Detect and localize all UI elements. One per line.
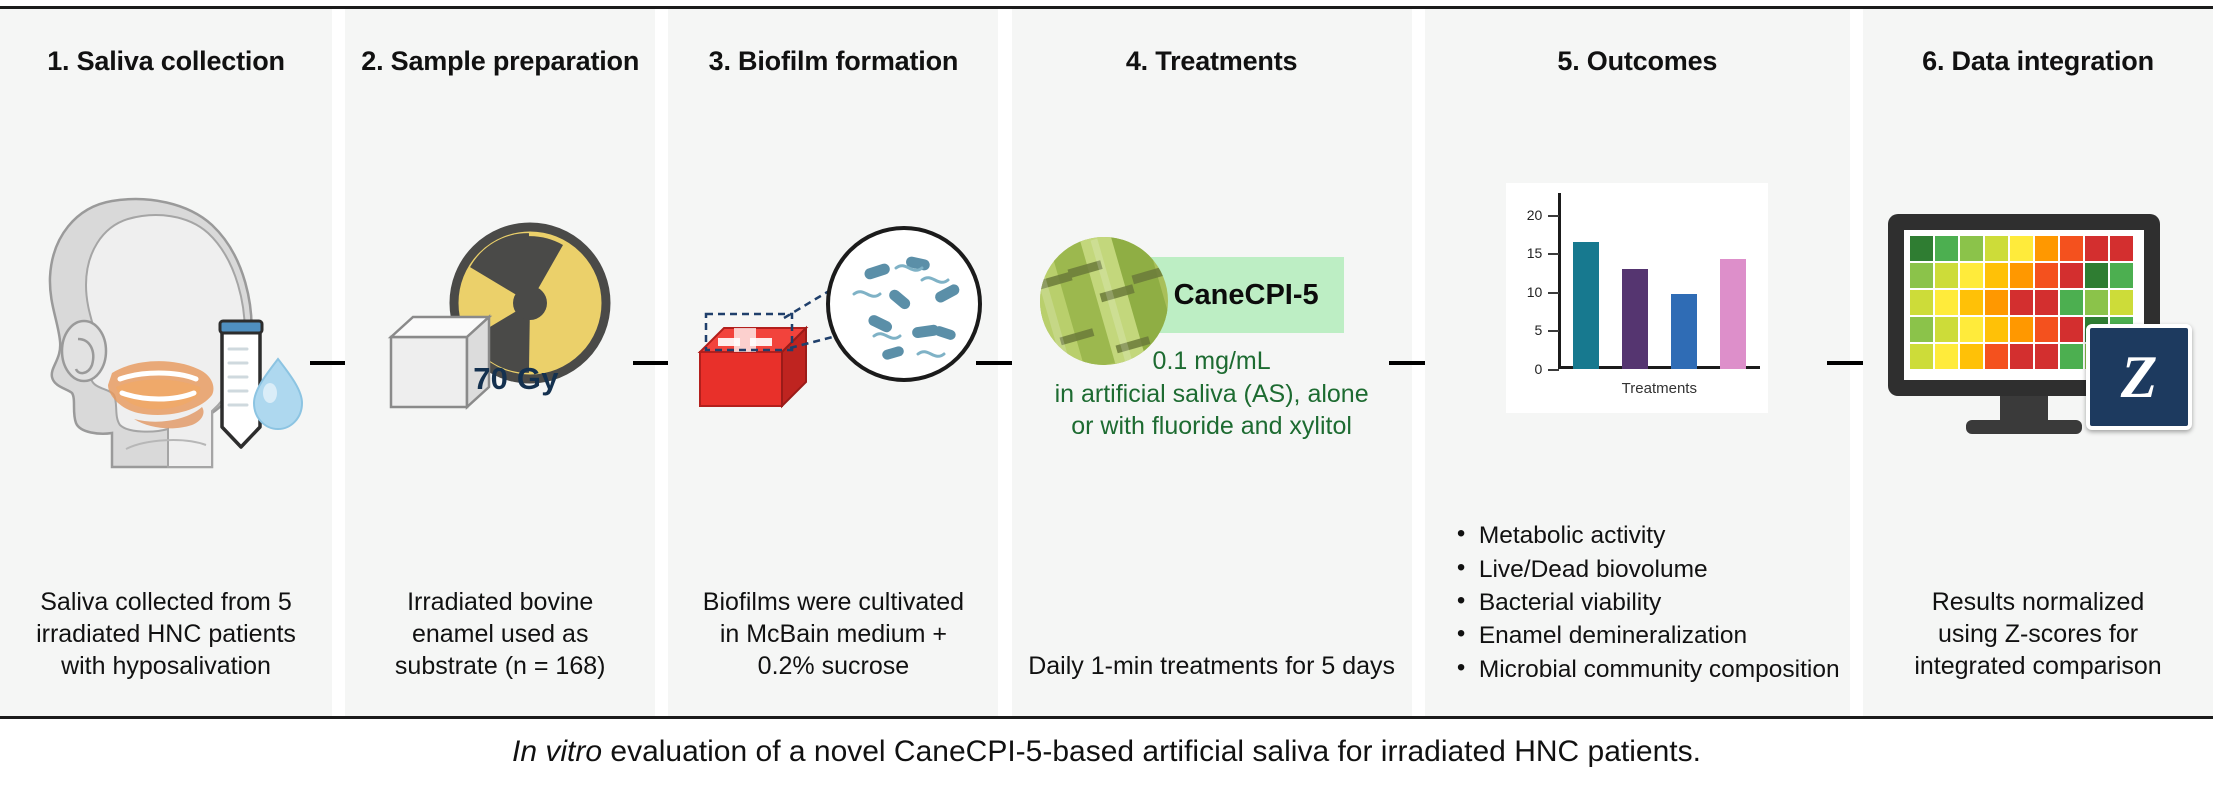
heatmap-cell xyxy=(1935,317,1958,342)
panel-caption-6: Results normalized using Z-scores for in… xyxy=(1863,586,2213,716)
chart-bar-3 xyxy=(1720,259,1745,370)
chart-ytick-20: 20 xyxy=(1548,215,1559,217)
outcome-item-4: Microbial community composition xyxy=(1455,653,1844,686)
panel-biofilm-formation: 3. Biofilm formation xyxy=(668,9,998,716)
heatmap-cell xyxy=(1985,317,2008,342)
radiation-dose-label: 70 Gy xyxy=(473,361,558,397)
heatmap-cell xyxy=(2110,236,2133,261)
chart-ytick-label-20: 20 xyxy=(1527,207,1543,223)
heatmap-cell xyxy=(2060,317,2083,342)
head-illustration xyxy=(16,181,316,481)
outcome-item-2: Bacterial viability xyxy=(1455,586,1844,619)
z-score-badge: Z xyxy=(2086,324,2192,430)
panel-caption-3: Biofilms were cultivated in McBain mediu… xyxy=(668,586,998,716)
heatmap-cell xyxy=(1910,344,1933,369)
heatmap-cell xyxy=(2060,236,2083,261)
panel-art-6: Z xyxy=(1863,77,2213,586)
panel-title-2: 2. Sample preparation xyxy=(345,47,655,77)
heatmap-cell xyxy=(2035,290,2058,315)
heatmap-cell xyxy=(1910,290,1933,315)
heatmap-cell xyxy=(1985,263,2008,288)
chart-ytick-label-5: 5 xyxy=(1535,322,1543,338)
heatmap-cell xyxy=(2060,344,2083,369)
heatmap-cell xyxy=(2010,344,2033,369)
chart-bar-1 xyxy=(1622,269,1647,369)
heatmap-cell xyxy=(1960,317,1983,342)
heatmap-cell xyxy=(1935,344,1958,369)
heatmap-cell xyxy=(2085,290,2108,315)
panel-outcomes: 5. Outcomes 05101520 Treatments Metaboli… xyxy=(1425,9,1850,716)
heatmap-cell xyxy=(2010,317,2033,342)
heatmap-cell xyxy=(1935,236,1958,261)
chart-ytick-15: 15 xyxy=(1548,253,1559,255)
radiation-symbol-icon xyxy=(355,211,645,451)
treatment-details-text: 0.1 mg/mL in artificial saliva (AS), alo… xyxy=(1022,345,1402,443)
heatmap-cell xyxy=(2010,290,2033,315)
outcomes-list: Metabolic activityLive/Dead biovolumeBac… xyxy=(1425,519,1850,716)
heatmap-cell xyxy=(2085,263,2108,288)
heatmap-cell xyxy=(1960,344,1983,369)
chart-ytick-0: 0 xyxy=(1548,369,1559,371)
heatmap-cell xyxy=(2085,236,2108,261)
chart-x-title: Treatments xyxy=(1558,380,1760,397)
workflow-figure: 1. Saliva collection xyxy=(0,0,2213,810)
heatmap-cell xyxy=(2010,263,2033,288)
heatmap-cell xyxy=(1960,263,1983,288)
red-specimen-block-icon xyxy=(700,328,806,406)
saliva-tube-icon xyxy=(16,181,316,481)
panel-treatments: 4. Treatments CaneCPI-5 xyxy=(1012,9,1412,716)
heatmap-cell xyxy=(1985,236,2008,261)
irradiation-illustration: 70 Gy xyxy=(355,211,645,451)
panel-art-1 xyxy=(0,77,332,586)
heatmap-cell xyxy=(1935,290,1958,315)
figure-caption-italic: In vitro xyxy=(512,735,602,768)
outcome-item-0: Metabolic activity xyxy=(1455,519,1844,552)
arrow-gap-2 xyxy=(655,9,668,716)
figure-caption: In vitro evaluation of a novel CaneCPI-5… xyxy=(0,735,2213,769)
panel-art-2: 70 Gy xyxy=(345,77,655,586)
heatmap-cell xyxy=(1910,236,1933,261)
outcomes-bar-chart: 05101520 Treatments xyxy=(1506,183,1768,413)
arrow-gap-3 xyxy=(998,9,1011,716)
biofilm-illustration xyxy=(678,206,988,456)
panel-title-6: 6. Data integration xyxy=(1863,47,2213,77)
frame-bottom-rule xyxy=(0,716,2213,719)
panel-title-5: 5. Outcomes xyxy=(1425,47,1850,77)
panel-title-1: 1. Saliva collection xyxy=(0,47,332,77)
panel-art-3 xyxy=(668,77,998,586)
chart-bars xyxy=(1562,199,1758,369)
data-integration-illustration: Z xyxy=(1878,196,2198,466)
panel-art-5: 05101520 Treatments xyxy=(1425,77,1850,520)
figure-caption-rest: evaluation of a novel CaneCPI-5-based ar… xyxy=(602,735,1701,768)
workflow-row: 1. Saliva collection xyxy=(0,9,2213,716)
panel-caption-4: Daily 1-min treatments for 5 days xyxy=(1012,650,1412,716)
heatmap-cell xyxy=(1960,290,1983,315)
chart-ytick-10: 10 xyxy=(1548,292,1559,294)
heatmap-cell xyxy=(1910,263,1933,288)
z-score-label: Z xyxy=(2121,347,2158,407)
panel-title-4: 4. Treatments xyxy=(1012,47,1412,77)
heatmap-cell xyxy=(1985,290,2008,315)
chart-ytick-label-15: 15 xyxy=(1527,245,1543,261)
outcome-item-1: Live/Dead biovolume xyxy=(1455,553,1844,586)
chart-ytick-label-0: 0 xyxy=(1535,361,1543,377)
heatmap-cell xyxy=(2060,263,2083,288)
treatment-illustration: CaneCPI-5 xyxy=(1022,213,1402,513)
chart-ytick-label-10: 10 xyxy=(1527,284,1543,300)
heatmap-cell xyxy=(2035,344,2058,369)
arrow-gap-4 xyxy=(1412,9,1425,716)
arrow-gap-5 xyxy=(1850,9,1863,716)
heatmap-cell xyxy=(2110,263,2133,288)
chart-y-axis xyxy=(1558,193,1561,369)
heatmap-cell xyxy=(2010,236,2033,261)
heatmap-cell xyxy=(1985,344,2008,369)
chart-bar-0 xyxy=(1573,242,1598,370)
panel-title-3: 3. Biofilm formation xyxy=(668,47,998,77)
heatmap-cell xyxy=(2060,290,2083,315)
panel-saliva-collection: 1. Saliva collection xyxy=(0,9,332,716)
panel-sample-preparation: 2. Sample preparation xyxy=(345,9,655,716)
heatmap-cell xyxy=(1935,263,1958,288)
heatmap-cell xyxy=(1910,317,1933,342)
heatmap-cell xyxy=(2035,236,2058,261)
biofilm-magnifier-icon xyxy=(678,206,988,456)
chart-bar-2 xyxy=(1671,294,1696,369)
outcome-item-3: Enamel demineralization xyxy=(1455,619,1844,652)
panel-data-integration: 6. Data integration Z Results normalized… xyxy=(1863,9,2213,716)
panel-art-4: CaneCPI-5 xyxy=(1012,77,1412,650)
arrow-gap-1 xyxy=(332,9,345,716)
heatmap-cell xyxy=(2035,263,2058,288)
heatmap-cell xyxy=(1960,236,1983,261)
panel-caption-2: Irradiated bovine enamel used as substra… xyxy=(345,586,655,716)
chart-ytick-5: 5 xyxy=(1548,330,1559,332)
heatmap-cell xyxy=(2110,290,2133,315)
panel-caption-1: Saliva collected from 5 irradiated HNC p… xyxy=(0,586,332,716)
heatmap-cell xyxy=(2035,317,2058,342)
